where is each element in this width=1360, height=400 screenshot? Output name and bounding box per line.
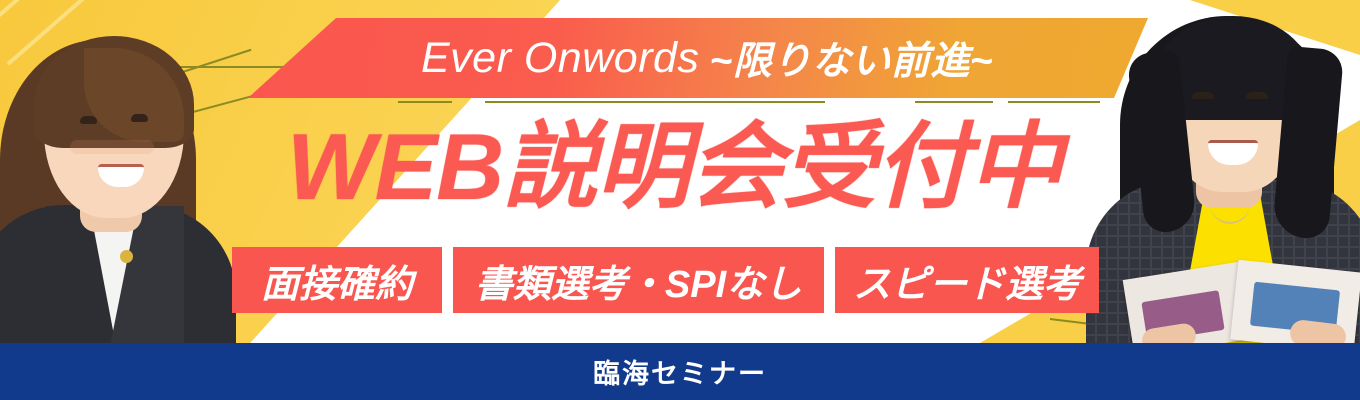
guide-line bbox=[915, 101, 993, 103]
company-name: 臨海セミナー bbox=[593, 352, 767, 391]
tagline-japanese: ~限りない前進~ bbox=[709, 30, 993, 86]
badge-interview-guaranteed: 面接確約 bbox=[232, 247, 442, 313]
badge-speed-selection: スピード選考 bbox=[835, 247, 1099, 313]
tagline-english: Ever Onwords bbox=[421, 34, 699, 83]
badge-no-document-screening: 書類選考・SPIなし bbox=[453, 247, 824, 313]
eye-left bbox=[1192, 92, 1214, 99]
headline: WEB説明会受付中 bbox=[0, 112, 1360, 222]
guide-line bbox=[485, 101, 825, 103]
feature-badges: 面接確約 書類選考・SPIなし スピード選考 bbox=[232, 247, 1099, 313]
footer-bar: 臨海セミナー bbox=[0, 343, 1360, 400]
guide-line bbox=[398, 101, 452, 103]
eye-right bbox=[1246, 92, 1268, 99]
lapel-pin bbox=[120, 250, 133, 263]
recruitment-banner: Ever Onwords ~限りない前進~ WEB説明会受付中 面接確約 書類選… bbox=[0, 0, 1360, 400]
tagline-text-wrapper: Ever Onwords ~限りない前進~ bbox=[248, 18, 1148, 98]
